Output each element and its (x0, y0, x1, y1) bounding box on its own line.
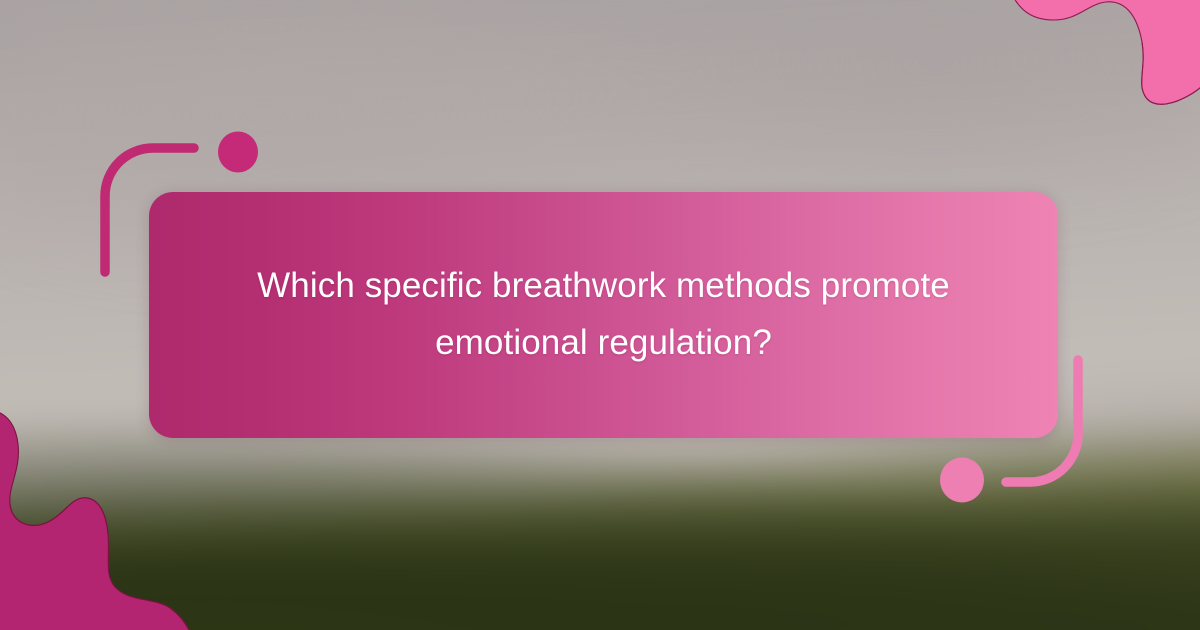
accent-dot-icon (218, 132, 258, 173)
organic-blob-top-right (992, 0, 1200, 148)
accent-dot-icon (940, 458, 984, 503)
organic-blob-bottom-left (0, 412, 198, 630)
question-card: Which specific breathwork methods promot… (149, 192, 1058, 438)
screenshot-canvas: Which specific breathwork methods promot… (0, 0, 1200, 630)
question-text: Which specific breathwork methods promot… (254, 258, 954, 371)
